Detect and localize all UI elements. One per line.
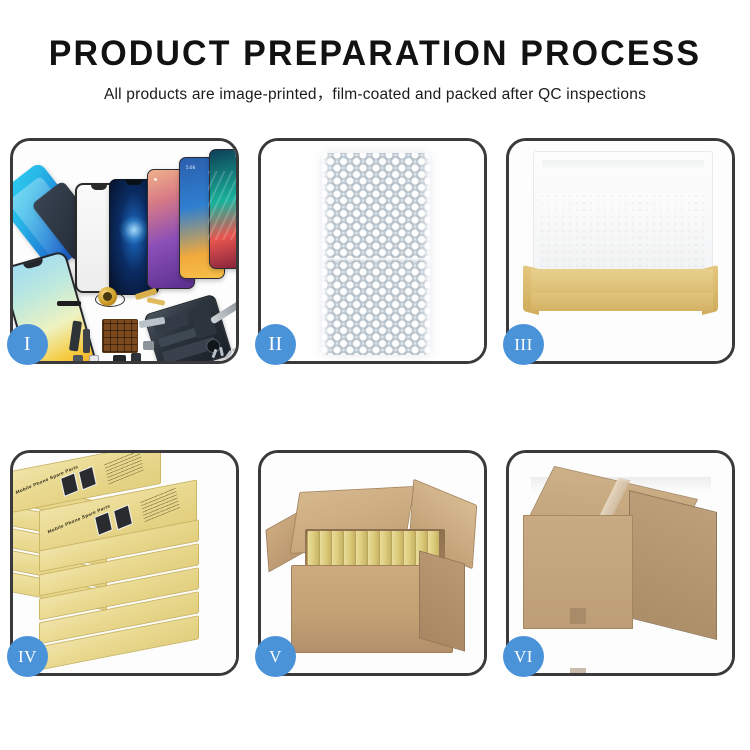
sealed-carton-side [629,490,717,640]
step-panel-6: VI [506,450,735,676]
box-spec-lines-2 [140,487,180,522]
step-1-image: 5:08 [13,141,236,361]
step-5-image [261,453,484,673]
step-panel-2: II [258,138,487,364]
flex-cable-part-5 [147,297,166,306]
chip-part-5 [73,355,83,361]
step-3-image [509,141,732,361]
step-badge-4: IV [7,636,48,677]
earpiece-part [57,301,81,306]
chip-part-4 [143,341,154,350]
box-stack: Mobile Phone Spare Parts Mobile Phone Sp… [13,453,236,673]
page-subtitle: All products are image-printed，film-coat… [0,84,750,106]
box-screen-thumb-3 [94,511,113,536]
connector-grid-part [102,319,138,353]
step-panel-3: III [506,138,735,364]
box-screen-thumb-1 [60,472,79,497]
flex-cable-part-2 [83,329,90,353]
step-badge-2: II [255,324,296,365]
carton-handle-tab-top [570,608,586,624]
sealed-carton-front [523,515,633,629]
page-title: PRODUCT PREPARATION PROCESS [11,33,739,75]
screws-group [213,347,236,359]
carton-body-right [419,550,465,651]
phone-screen-teal [209,149,236,269]
chip-part-2 [131,353,141,361]
box-spec-lines-1 [104,453,144,485]
steps-grid: 5:08 [10,138,742,678]
box-screen-thumb-2 [78,466,97,491]
step-badge-6: VI [503,636,544,677]
step-badge-1: I [7,324,48,365]
box-screen-thumb-4 [113,504,133,530]
carton-handle-tab-bottom [570,668,586,673]
step-badge-3: III [503,324,544,365]
kraft-box-base [531,269,713,311]
step-panel-1: 5:08 [10,138,239,364]
foam-sheet [539,193,705,271]
bubble-wrap-package [322,153,430,355]
step-badge-5: V [255,636,296,677]
step-4-image: Mobile Phone Spare Parts Mobile Phone Sp… [13,453,236,673]
step-panel-5: V [258,450,487,676]
product-preparation-infographic: PRODUCT PREPARATION PROCESS All products… [0,0,750,750]
chip-part-1 [113,355,126,361]
step-panel-4: Mobile Phone Spare Parts Mobile Phone Sp… [10,450,239,676]
step-6-image [509,453,732,673]
vibrator-motor-part [98,287,117,306]
chip-part-3 [89,355,99,361]
step-2-image [261,141,484,361]
